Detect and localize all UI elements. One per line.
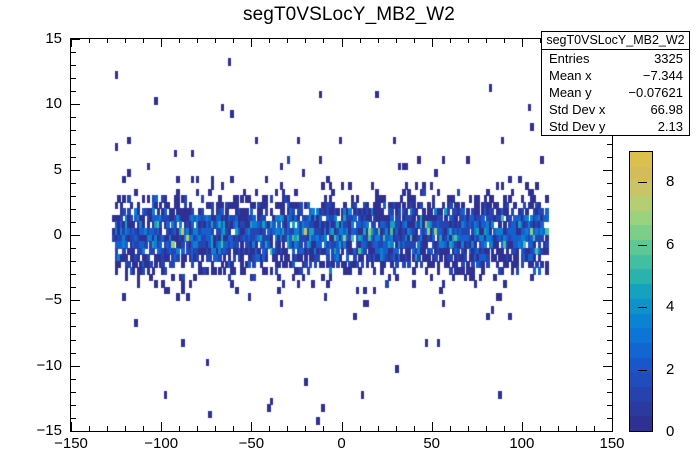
- y-minor-tick-right: [607, 313, 612, 314]
- plot-title: segT0VSLocY_MB2_W2: [0, 4, 698, 26]
- x-minor-tick-top: [378, 38, 379, 43]
- y-tick-label: 5: [16, 161, 62, 178]
- x-minor-tick: [486, 426, 487, 431]
- x-major-tick: [432, 422, 433, 431]
- y-major-tick: [71, 170, 80, 171]
- color-scale-tick: [638, 182, 647, 183]
- stats-key: Std Dev y: [549, 118, 605, 135]
- y-minor-tick-right: [607, 196, 612, 197]
- y-minor-tick: [71, 78, 76, 79]
- x-minor-tick-top: [414, 38, 415, 43]
- x-tick-label: −50: [221, 435, 281, 452]
- color-scale-label: 2: [666, 361, 674, 378]
- x-minor-tick-top: [179, 38, 180, 43]
- color-scale-label: 6: [666, 236, 674, 253]
- y-minor-tick-right: [607, 353, 612, 354]
- x-minor-tick: [179, 426, 180, 431]
- y-major-tick: [71, 300, 80, 301]
- x-minor-tick: [558, 426, 559, 431]
- y-minor-tick-right: [607, 209, 612, 210]
- y-tick-label: 15: [16, 30, 62, 47]
- x-major-tick-top: [522, 38, 523, 47]
- x-tick-label: 150: [582, 435, 642, 452]
- x-minor-tick: [287, 426, 288, 431]
- statistics-box: segT0VSLocY_MB2_W2 Entries3325Mean x−7.3…: [541, 31, 690, 136]
- y-major-tick-right: [603, 235, 612, 236]
- x-minor-tick: [468, 426, 469, 431]
- y-minor-tick: [71, 183, 76, 184]
- x-minor-tick-top: [197, 38, 198, 43]
- stats-title: segT0VSLocY_MB2_W2: [542, 32, 689, 50]
- x-minor-tick: [143, 426, 144, 431]
- y-major-tick: [71, 235, 80, 236]
- y-minor-tick: [71, 196, 76, 197]
- y-minor-tick-right: [607, 379, 612, 380]
- x-minor-tick-top: [215, 38, 216, 43]
- stats-value: 3325: [654, 50, 683, 67]
- y-minor-tick-right: [607, 418, 612, 419]
- y-major-tick: [71, 431, 80, 432]
- stats-row: Std Dev y2.13: [542, 118, 689, 135]
- y-minor-tick-right: [607, 287, 612, 288]
- y-minor-tick: [71, 313, 76, 314]
- y-minor-tick: [71, 340, 76, 341]
- y-minor-tick-right: [607, 183, 612, 184]
- x-minor-tick-top: [360, 38, 361, 43]
- y-minor-tick: [71, 379, 76, 380]
- stats-rows: Entries3325Mean x−7.344Mean y−0.07621Std…: [542, 50, 689, 135]
- y-minor-tick-right: [607, 392, 612, 393]
- x-minor-tick-top: [396, 38, 397, 43]
- y-minor-tick: [71, 130, 76, 131]
- y-major-tick-right: [603, 431, 612, 432]
- x-minor-tick: [378, 426, 379, 431]
- y-minor-tick: [71, 209, 76, 210]
- stats-value: 2.13: [658, 118, 683, 135]
- stats-value: 66.98: [650, 101, 683, 118]
- y-tick-label: −15: [16, 422, 62, 439]
- y-tick-label: 0: [16, 226, 62, 243]
- stats-value: −7.344: [643, 67, 683, 84]
- y-major-tick-right: [603, 300, 612, 301]
- y-minor-tick: [71, 392, 76, 393]
- x-minor-tick-top: [125, 38, 126, 43]
- x-tick-label: 100: [492, 435, 552, 452]
- y-minor-tick-right: [607, 340, 612, 341]
- stats-row: Mean y−0.07621: [542, 84, 689, 101]
- stats-key: Mean y: [549, 84, 592, 101]
- y-minor-tick-right: [607, 248, 612, 249]
- x-minor-tick-top: [468, 38, 469, 43]
- x-minor-tick: [540, 426, 541, 431]
- y-minor-tick-right: [607, 405, 612, 406]
- y-minor-tick: [71, 52, 76, 53]
- stats-key: Entries: [549, 50, 589, 67]
- x-minor-tick-top: [486, 38, 487, 43]
- x-major-tick: [251, 422, 252, 431]
- plot-frame: [70, 38, 613, 432]
- y-major-tick-right: [603, 170, 612, 171]
- y-minor-tick-right: [607, 157, 612, 158]
- x-major-tick: [71, 422, 72, 431]
- y-minor-tick-right: [607, 326, 612, 327]
- x-minor-tick: [576, 426, 577, 431]
- y-minor-tick: [71, 144, 76, 145]
- y-minor-tick-right: [607, 144, 612, 145]
- y-minor-tick: [71, 117, 76, 118]
- x-minor-tick: [89, 426, 90, 431]
- x-minor-tick-top: [269, 38, 270, 43]
- x-minor-tick-top: [287, 38, 288, 43]
- x-minor-tick: [414, 426, 415, 431]
- y-minor-tick: [71, 326, 76, 327]
- x-minor-tick: [269, 426, 270, 431]
- x-major-tick-top: [342, 38, 343, 47]
- y-minor-tick: [71, 418, 76, 419]
- x-minor-tick-top: [89, 38, 90, 43]
- stats-key: Mean x: [549, 67, 592, 84]
- color-scale-bar: [629, 151, 653, 432]
- y-tick-label: −10: [16, 357, 62, 374]
- x-minor-tick: [360, 426, 361, 431]
- x-minor-tick: [197, 426, 198, 431]
- x-minor-tick: [504, 426, 505, 431]
- x-major-tick-top: [251, 38, 252, 47]
- root-canvas: segT0VSLocY_MB2_W2 −150−100−50050100150 …: [0, 0, 698, 476]
- y-minor-tick: [71, 274, 76, 275]
- y-minor-tick: [71, 405, 76, 406]
- y-tick-label: 10: [16, 95, 62, 112]
- y-minor-tick: [71, 261, 76, 262]
- y-minor-tick: [71, 287, 76, 288]
- x-tick-label: −100: [131, 435, 191, 452]
- x-major-tick: [342, 422, 343, 431]
- x-minor-tick-top: [233, 38, 234, 43]
- y-major-tick: [71, 366, 80, 367]
- x-minor-tick-top: [107, 38, 108, 43]
- x-minor-tick: [215, 426, 216, 431]
- x-minor-tick: [107, 426, 108, 431]
- stats-row: Mean x−7.344: [542, 67, 689, 84]
- color-scale-label: 8: [666, 173, 674, 190]
- x-minor-tick-top: [504, 38, 505, 43]
- y-minor-tick-right: [607, 274, 612, 275]
- y-minor-tick: [71, 65, 76, 66]
- x-tick-label: 0: [312, 435, 372, 452]
- x-major-tick-top: [161, 38, 162, 47]
- x-minor-tick: [233, 426, 234, 431]
- y-minor-tick: [71, 222, 76, 223]
- x-tick-label: 50: [402, 435, 462, 452]
- y-tick-label: −5: [16, 291, 62, 308]
- color-scale-tick: [638, 370, 647, 371]
- color-scale-tick: [638, 245, 647, 246]
- x-minor-tick: [396, 426, 397, 431]
- color-scale-tick: [638, 307, 647, 308]
- x-minor-tick: [323, 426, 324, 431]
- color-scale-label: 0: [666, 423, 674, 440]
- x-minor-tick-top: [305, 38, 306, 43]
- y-minor-tick: [71, 248, 76, 249]
- x-major-tick: [161, 422, 162, 431]
- x-minor-tick: [305, 426, 306, 431]
- x-minor-tick-top: [450, 38, 451, 43]
- x-minor-tick-top: [143, 38, 144, 43]
- y-minor-tick: [71, 91, 76, 92]
- stats-value: −0.07621: [628, 84, 683, 101]
- heatmap-canvas: [71, 39, 612, 431]
- y-minor-tick: [71, 353, 76, 354]
- y-minor-tick-right: [607, 261, 612, 262]
- x-major-tick-top: [432, 38, 433, 47]
- x-minor-tick: [125, 426, 126, 431]
- x-minor-tick-top: [323, 38, 324, 43]
- color-scale-label: 4: [666, 298, 674, 315]
- x-major-tick: [522, 422, 523, 431]
- color-scale-canvas: [630, 152, 652, 431]
- stats-row: Entries3325: [542, 50, 689, 67]
- x-major-tick: [612, 422, 613, 431]
- y-minor-tick: [71, 157, 76, 158]
- y-major-tick-right: [603, 366, 612, 367]
- x-minor-tick: [594, 426, 595, 431]
- y-minor-tick-right: [607, 222, 612, 223]
- stats-row: Std Dev x66.98: [542, 101, 689, 118]
- y-major-tick: [71, 39, 80, 40]
- y-major-tick: [71, 104, 80, 105]
- stats-key: Std Dev x: [549, 101, 605, 118]
- x-minor-tick: [450, 426, 451, 431]
